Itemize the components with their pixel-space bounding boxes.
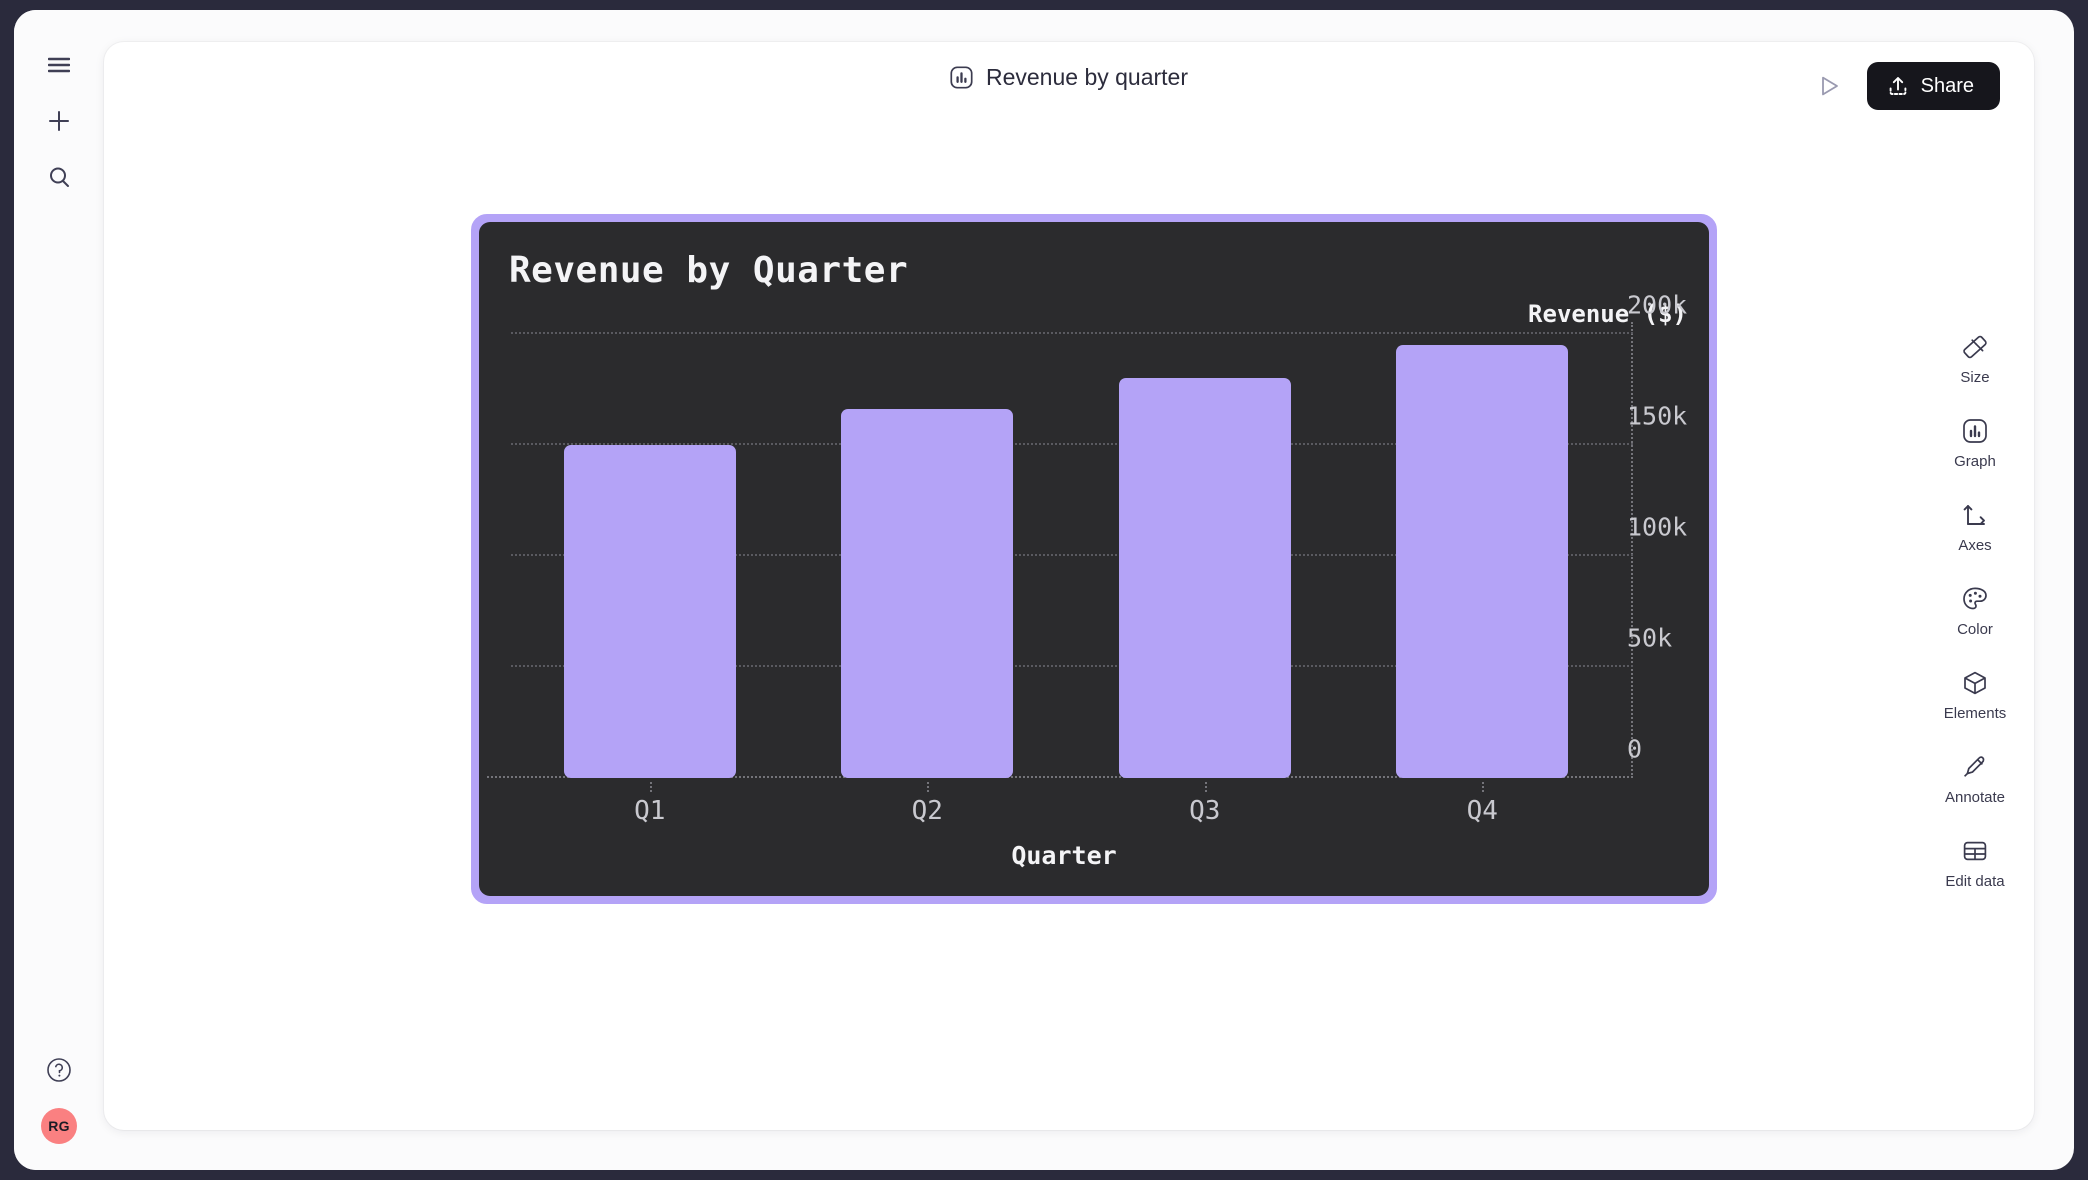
chart-panel: Revenue by Quarter Revenue ($) 050k100k1… xyxy=(479,222,1709,896)
plus-icon[interactable] xyxy=(37,99,81,143)
bar[interactable] xyxy=(1396,345,1568,778)
box-icon xyxy=(1962,668,1988,698)
avatar[interactable]: RG xyxy=(41,1108,77,1144)
axes-icon xyxy=(1962,500,1988,530)
chart-figure[interactable]: Revenue by Quarter Revenue ($) 050k100k1… xyxy=(471,214,1717,904)
table-icon xyxy=(1962,836,1988,866)
app-window: RG Revenue by quarter xyxy=(14,10,2074,1170)
tool-label: Edit data xyxy=(1945,873,2004,890)
chart-title: Revenue by Quarter xyxy=(509,250,908,291)
play-icon[interactable] xyxy=(1809,66,1849,106)
bar-group: Q3 xyxy=(1066,334,1344,778)
tool-label: Elements xyxy=(1944,705,2007,722)
y-axis-tick-label: 150k xyxy=(1627,402,1687,431)
bar-group: Q1 xyxy=(511,334,789,778)
tool-label: Size xyxy=(1960,369,1989,386)
left-sidebar: RG xyxy=(14,10,104,1170)
y-axis-tick-label: 50k xyxy=(1627,624,1672,653)
tool-edit-data[interactable]: Edit data xyxy=(1925,836,2025,890)
tool-elements[interactable]: Elements xyxy=(1925,668,2025,722)
bar[interactable] xyxy=(841,409,1013,778)
x-axis-tick-label: Q2 xyxy=(912,796,943,826)
question-mark-icon[interactable] xyxy=(37,1048,81,1092)
sidebar-footer: RG xyxy=(14,1048,104,1144)
x-axis-tick-label: Q4 xyxy=(1467,796,1498,826)
tool-graph[interactable]: Graph xyxy=(1925,416,2025,470)
tool-color[interactable]: Color xyxy=(1925,584,2025,638)
x-axis-tick xyxy=(1482,782,1484,792)
y-axis-spine xyxy=(1631,322,1633,778)
share-button[interactable]: Share xyxy=(1867,62,2000,110)
canvas-card: Revenue by quarter Share xyxy=(104,42,2034,1130)
bar-group: Q4 xyxy=(1344,334,1622,778)
ruler-icon xyxy=(1962,332,1988,362)
bar[interactable] xyxy=(564,445,736,778)
bar-group: Q2 xyxy=(789,334,1067,778)
hamburger-menu-icon[interactable] xyxy=(37,43,81,87)
upload-icon xyxy=(1887,75,1909,97)
tool-label: Color xyxy=(1957,621,1993,638)
x-axis-title: Quarter xyxy=(479,841,1709,870)
document-title-group[interactable]: Revenue by quarter xyxy=(950,64,1188,91)
bar-chart-icon xyxy=(950,66,973,89)
x-axis-tick xyxy=(650,782,652,792)
x-axis-tick-label: Q3 xyxy=(1189,796,1220,826)
tool-axes[interactable]: Axes xyxy=(1925,500,2025,554)
tool-label: Graph xyxy=(1954,453,1996,470)
y-axis-tick-label: 200k xyxy=(1627,291,1687,320)
highlighter-pen-icon xyxy=(1962,752,1988,782)
y-axis-tick-label: 100k xyxy=(1627,513,1687,542)
search-icon[interactable] xyxy=(37,155,81,199)
plot-area: 050k100k150k200k Q1Q2Q3Q4 xyxy=(511,334,1621,778)
header-actions: Share xyxy=(1809,62,2000,110)
document-header: Revenue by quarter Share xyxy=(104,42,2034,120)
tool-annotate[interactable]: Annotate xyxy=(1925,752,2025,806)
y-axis-tick-label: 0 xyxy=(1627,735,1642,764)
share-button-label: Share xyxy=(1921,75,1974,98)
bar-chart-icon xyxy=(1962,416,1988,446)
x-axis-tick xyxy=(927,782,929,792)
x-axis-tick-label: Q1 xyxy=(634,796,665,826)
bar-series: Q1Q2Q3Q4 xyxy=(511,334,1621,778)
document-title: Revenue by quarter xyxy=(986,64,1188,91)
avatar-initials: RG xyxy=(48,1118,70,1134)
bar[interactable] xyxy=(1119,378,1291,778)
tool-label: Annotate xyxy=(1945,789,2005,806)
tool-size[interactable]: Size xyxy=(1925,332,2025,386)
x-axis-tick xyxy=(1205,782,1207,792)
right-toolbar: SizeGraphAxesColorElementsAnnotateEdit d… xyxy=(1916,332,2034,890)
palette-icon xyxy=(1962,584,1988,614)
tool-label: Axes xyxy=(1958,537,1991,554)
